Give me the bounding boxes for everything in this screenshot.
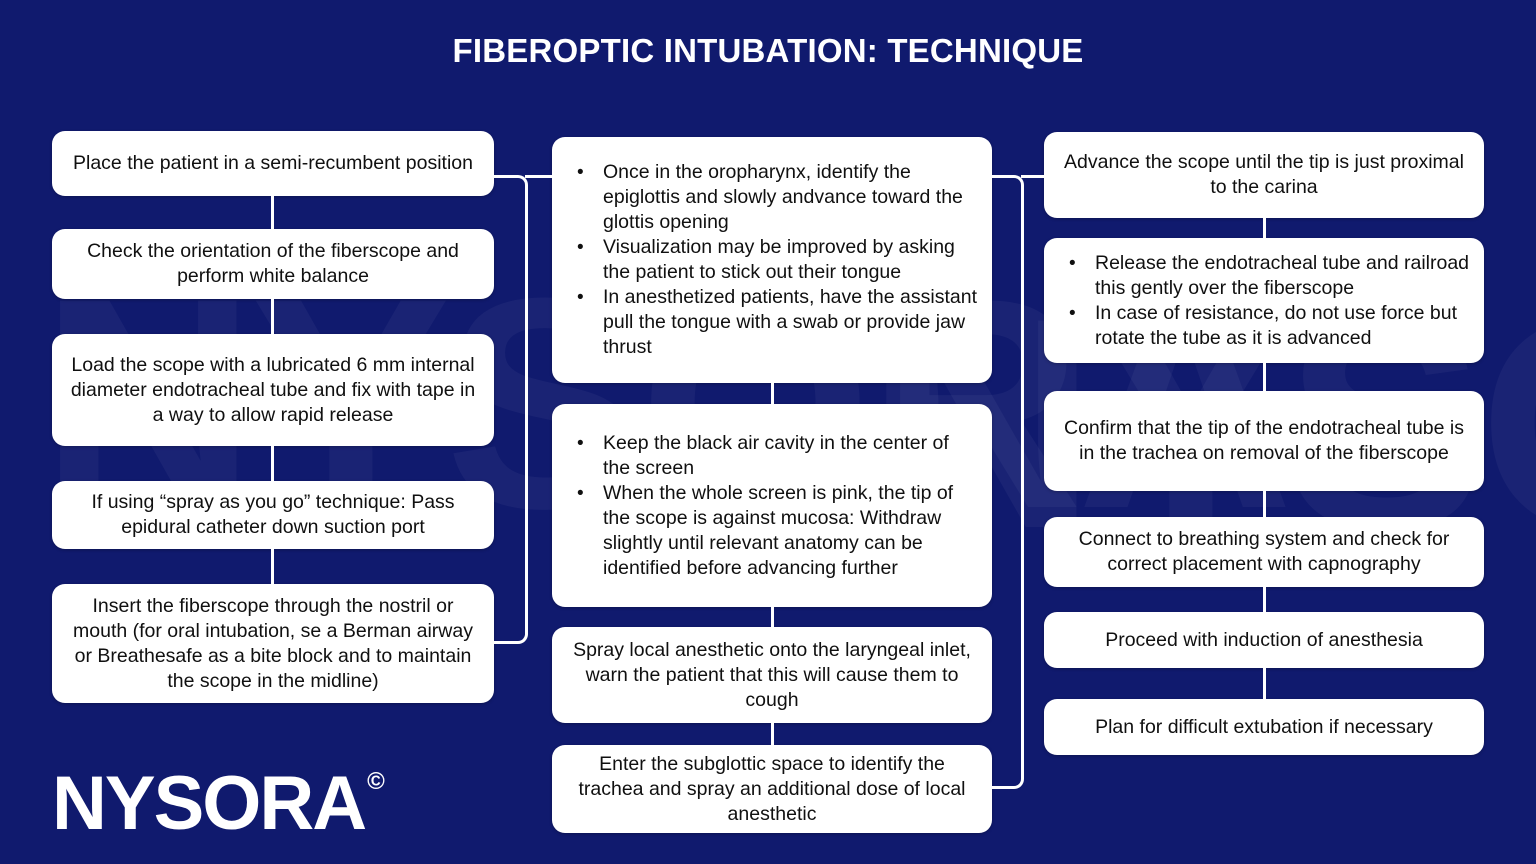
flow-box-c1-s4[interactable]: If using “spray as you go” technique: Pa… — [52, 481, 494, 549]
flow-box-c2-s4[interactable]: Enter the subglottic space to identify t… — [552, 745, 992, 833]
flow-box-c1-s5[interactable]: Insert the fiberscope through the nostri… — [52, 584, 494, 703]
nysora-logo: NYSORA © — [52, 766, 385, 842]
connector-c3-2-3 — [1263, 363, 1266, 391]
flow-box-text: Spray local anesthetic onto the laryngea… — [566, 638, 978, 713]
flow-box-c3-s2[interactable]: Release the endotracheal tube and railro… — [1044, 238, 1484, 363]
flow-box-c1-s3[interactable]: Load the scope with a lubricated 6 mm in… — [52, 334, 494, 446]
connector-c2-2-3 — [771, 607, 774, 627]
connector-c3-entry-stub — [1021, 175, 1046, 178]
flow-box-text: Place the patient in a semi-recumbent po… — [73, 151, 473, 176]
bullet-item: Visualization may be improved by asking … — [570, 235, 980, 285]
connector-c1-2-3 — [271, 299, 274, 334]
flow-box-bullet-list: Release the endotracheal tube and railro… — [1062, 251, 1472, 351]
flow-box-c3-s3[interactable]: Confirm that the tip of the endotracheal… — [1044, 391, 1484, 491]
connector-c2-3-4 — [771, 723, 774, 745]
flow-box-bullet-list: Once in the oropharynx, identify the epi… — [570, 160, 980, 360]
logo-wordmark: NYSORA — [52, 766, 365, 842]
bullet-item: In case of resistance, do not use force … — [1062, 301, 1472, 351]
flow-box-text: Insert the fiberscope through the nostri… — [66, 594, 480, 694]
flow-box-c3-s5[interactable]: Proceed with induction of anesthesia — [1044, 612, 1484, 668]
connector-c3-4-5 — [1263, 587, 1266, 612]
connector-c1-1-2 — [271, 196, 274, 229]
page-title: FIBEROPTIC INTUBATION: TECHNIQUE — [0, 32, 1536, 70]
connector-c1-3-4 — [271, 446, 274, 481]
flow-box-c1-s2[interactable]: Check the orientation of the fiberscope … — [52, 229, 494, 299]
bullet-item: Once in the oropharynx, identify the epi… — [570, 160, 980, 235]
flow-box-c2-s1[interactable]: Once in the oropharynx, identify the epi… — [552, 137, 992, 383]
connector-c3-3-4 — [1263, 491, 1266, 517]
flow-box-c3-s6[interactable]: Plan for difficult extubation if necessa… — [1044, 699, 1484, 755]
flowchart-board: Place the patient in a semi-recumbent po… — [0, 0, 1536, 864]
bullet-item: When the whole screen is pink, the tip o… — [570, 481, 980, 581]
bullet-item: Release the endotracheal tube and railro… — [1062, 251, 1472, 301]
flow-box-c2-s2[interactable]: Keep the black air cavity in the center … — [552, 404, 992, 607]
copyright-icon: © — [367, 770, 385, 794]
flow-box-text: Confirm that the tip of the endotracheal… — [1058, 416, 1470, 466]
connector-c3-5-6 — [1263, 668, 1266, 699]
flow-box-c1-s1[interactable]: Place the patient in a semi-recumbent po… — [52, 131, 494, 196]
flow-box-text: Advance the scope until the tip is just … — [1058, 150, 1470, 200]
connector-c2-entry-stub — [525, 175, 553, 178]
flow-box-c2-s3[interactable]: Spray local anesthetic onto the laryngea… — [552, 627, 992, 723]
flow-box-text: Plan for difficult extubation if necessa… — [1095, 715, 1433, 740]
flow-box-c3-s4[interactable]: Connect to breathing system and check fo… — [1044, 517, 1484, 587]
connector-c2-to-c3 — [992, 175, 1024, 789]
connector-c1-4-5 — [271, 549, 274, 584]
bullet-item: Keep the black air cavity in the center … — [570, 431, 980, 481]
bullet-item: In anesthetized patients, have the assis… — [570, 285, 980, 360]
connector-c3-1-2 — [1263, 218, 1266, 238]
flow-box-text: Check the orientation of the fiberscope … — [66, 239, 480, 289]
flow-box-c3-s1[interactable]: Advance the scope until the tip is just … — [1044, 132, 1484, 218]
flow-box-text: If using “spray as you go” technique: Pa… — [66, 490, 480, 540]
flow-box-text: Proceed with induction of anesthesia — [1105, 628, 1423, 653]
connector-c1-to-c2 — [494, 175, 528, 644]
flow-box-text: Enter the subglottic space to identify t… — [566, 752, 978, 827]
flow-box-text: Connect to breathing system and check fo… — [1058, 527, 1470, 577]
connector-c2-1-2 — [771, 383, 774, 404]
flow-box-bullet-list: Keep the black air cavity in the center … — [570, 431, 980, 581]
flow-box-text: Load the scope with a lubricated 6 mm in… — [66, 353, 480, 428]
